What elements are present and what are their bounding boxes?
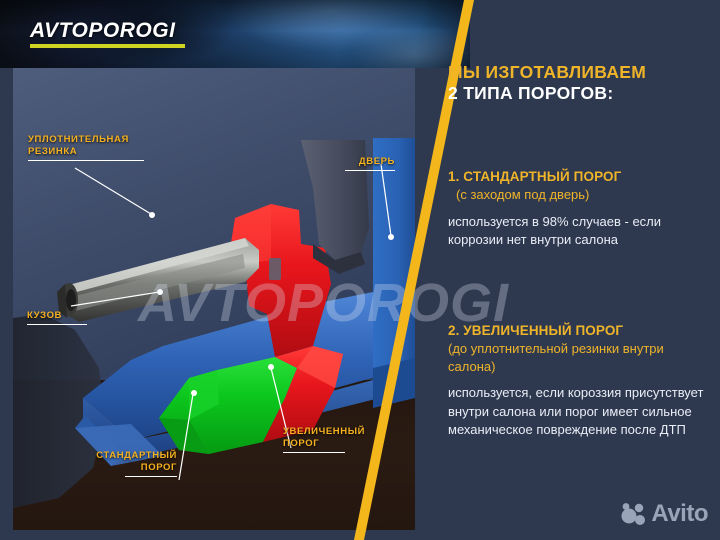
infographic-root: AVTOPOROGI: [0, 0, 720, 540]
section-2-body: используется, если короззия присутствует…: [448, 384, 710, 439]
headline-line-1: МЫ ИЗГОТАВЛИВАЕМ: [448, 62, 710, 83]
label-standard-sill: СТАНДАРТНЫЙ ПОРОГ: [85, 438, 177, 489]
avito-logo: Avito: [621, 500, 708, 528]
sill-cross-section-diagram: УПЛОТНИТЕЛЬНАЯ РЕЗИНКА ДВЕРЬ КУЗОВ СТАНД…: [13, 68, 415, 530]
section-1-body: используется в 98% случаев - если корроз…: [448, 213, 710, 250]
section-2-subheading: (до уплотнительной резинки внутри салона…: [448, 340, 710, 375]
headline-line-2: 2 ТИПА ПОРОГОВ:: [448, 83, 710, 104]
avito-dots-icon: [621, 502, 647, 526]
label-door: ДВЕРЬ: [333, 144, 395, 183]
label-body: КУЗОВ: [27, 298, 97, 337]
section-extended-sill: 2. УВЕЛИЧЕННЫЙ ПОРОГ (до уплотнительной …: [448, 322, 710, 440]
headline-block: МЫ ИЗГОТАВЛИВАЕМ 2 ТИПА ПОРОГОВ:: [448, 62, 710, 104]
section-1-heading: 1. СТАНДАРТНЫЙ ПОРОГ: [448, 168, 710, 186]
brand-logo-text: AVTOPOROGI: [30, 20, 185, 41]
brand-logo: AVTOPOROGI: [30, 20, 185, 48]
avito-wordmark: Avito: [651, 500, 708, 528]
section-standard-sill: 1. СТАНДАРТНЫЙ ПОРОГ (с заходом под двер…: [448, 168, 710, 250]
section-2-heading: 2. УВЕЛИЧЕННЫЙ ПОРОГ: [448, 322, 710, 340]
label-seal-rubber: УПЛОТНИТЕЛЬНАЯ РЕЗИНКА: [28, 122, 158, 173]
section-1-subheading: (с заходом под дверь): [448, 186, 710, 204]
brand-logo-underline: [30, 44, 185, 48]
label-extended-sill: УВЕЛИЧЕННЫЙ ПОРОГ: [283, 414, 383, 465]
